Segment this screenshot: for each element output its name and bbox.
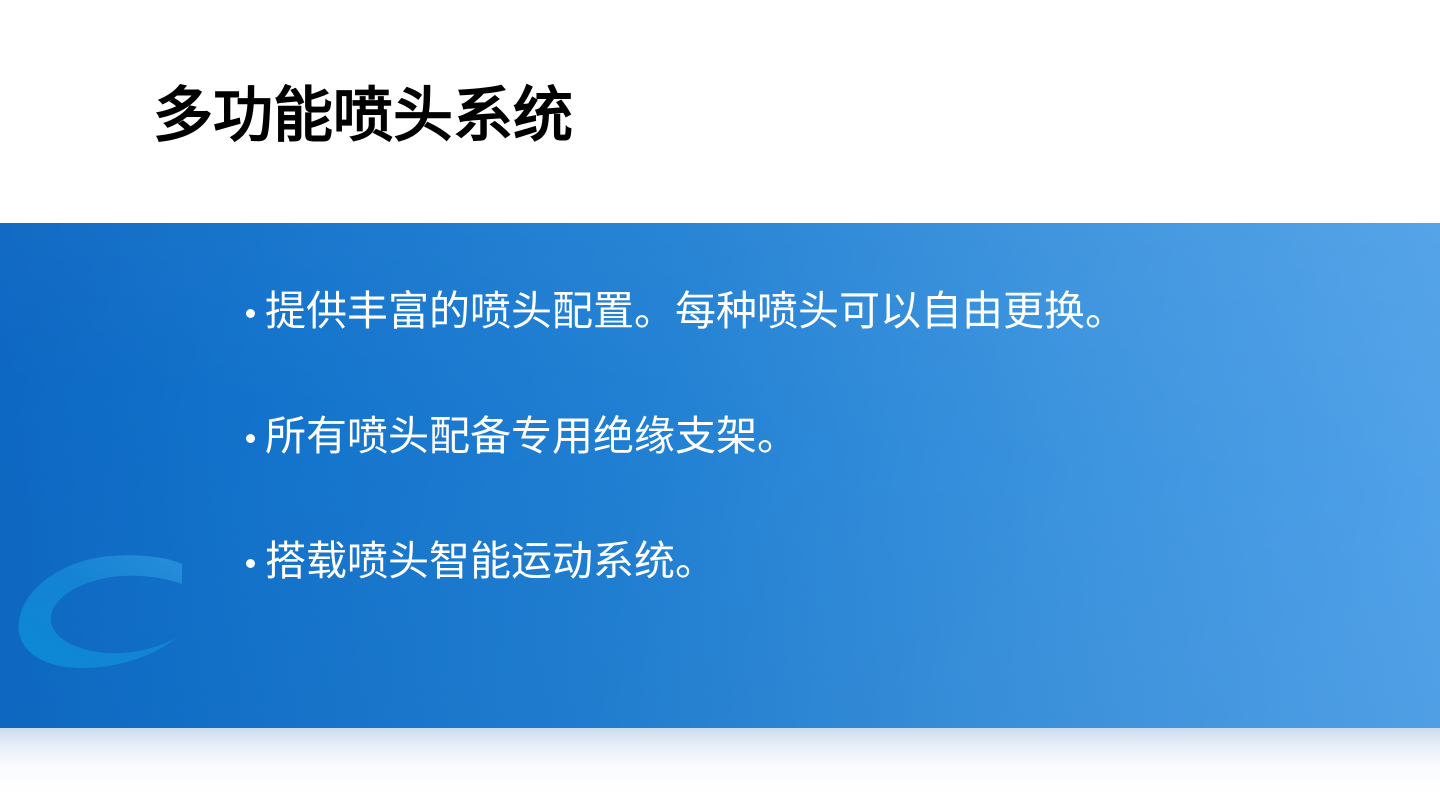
slide-header: 多功能喷头系统 <box>0 0 1440 223</box>
slide-title: 多功能喷头系统 <box>153 78 573 154</box>
content-panel: 提供丰富的喷头配置。每种喷头可以自由更换。 所有喷头配备专用绝缘支架。 搭载喷头… <box>0 223 1440 728</box>
list-item: 所有喷头配备专用绝缘支架。 <box>246 408 1396 464</box>
bullet-dot-icon <box>246 559 255 568</box>
ring-decoration-icon <box>14 554 182 670</box>
list-item-label: 搭载喷头智能运动系统。 <box>265 533 716 589</box>
list-item: 提供丰富的喷头配置。每种喷头可以自由更换。 <box>246 283 1396 339</box>
list-item-label: 所有喷头配备专用绝缘支架。 <box>265 408 798 464</box>
bullet-list: 提供丰富的喷头配置。每种喷头可以自由更换。 所有喷头配备专用绝缘支架。 搭载喷头… <box>246 283 1396 589</box>
list-item-label: 提供丰富的喷头配置。每种喷头可以自由更换。 <box>265 283 1126 339</box>
bullet-dot-icon <box>246 434 255 443</box>
presentation-slide: 多功能喷头系统 <box>0 0 1440 810</box>
panel-drop-shadow <box>0 728 1440 794</box>
list-item: 搭载喷头智能运动系统。 <box>246 533 1396 589</box>
bullet-dot-icon <box>246 309 255 318</box>
